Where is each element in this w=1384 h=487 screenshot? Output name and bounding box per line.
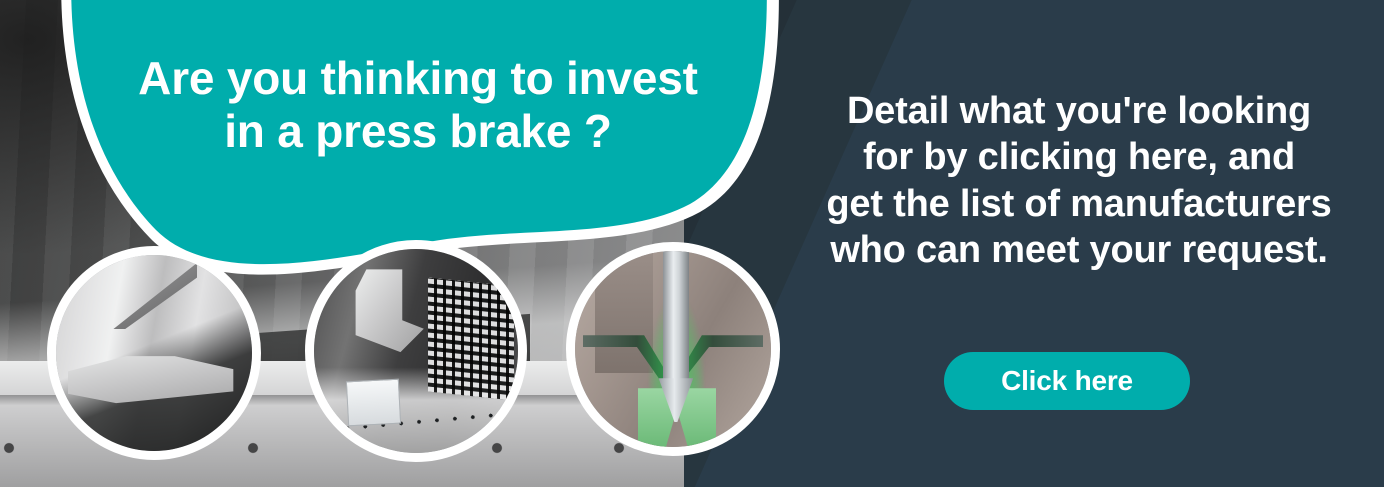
photo-circle-punch xyxy=(305,240,527,462)
body-line-4: who can meet your request. xyxy=(786,227,1372,273)
body-line-1: Detail what you're looking xyxy=(786,88,1372,134)
photo-clamps-image xyxy=(56,255,252,451)
photo-circle-bending xyxy=(566,242,780,456)
body-line-2: for by clicking here, and xyxy=(786,134,1372,180)
photo-bending-punch xyxy=(663,247,688,388)
photo-punch-label-card xyxy=(345,378,400,426)
headline-line-1: Are you thinking to invest xyxy=(138,52,698,104)
body-copy: Detail what you're looking for by clicki… xyxy=(786,88,1372,273)
photo-circle-clamps xyxy=(47,246,261,460)
page-title: Are you thinking to invest in a press br… xyxy=(108,52,728,159)
headline-line-2: in a press brake ? xyxy=(108,105,728,158)
body-line-3: get the list of manufacturers xyxy=(786,181,1372,227)
promotional-banner: Are you thinking to invest in a press br… xyxy=(0,0,1384,487)
photo-bending-image xyxy=(575,251,771,447)
click-here-button[interactable]: Click here xyxy=(944,352,1190,410)
